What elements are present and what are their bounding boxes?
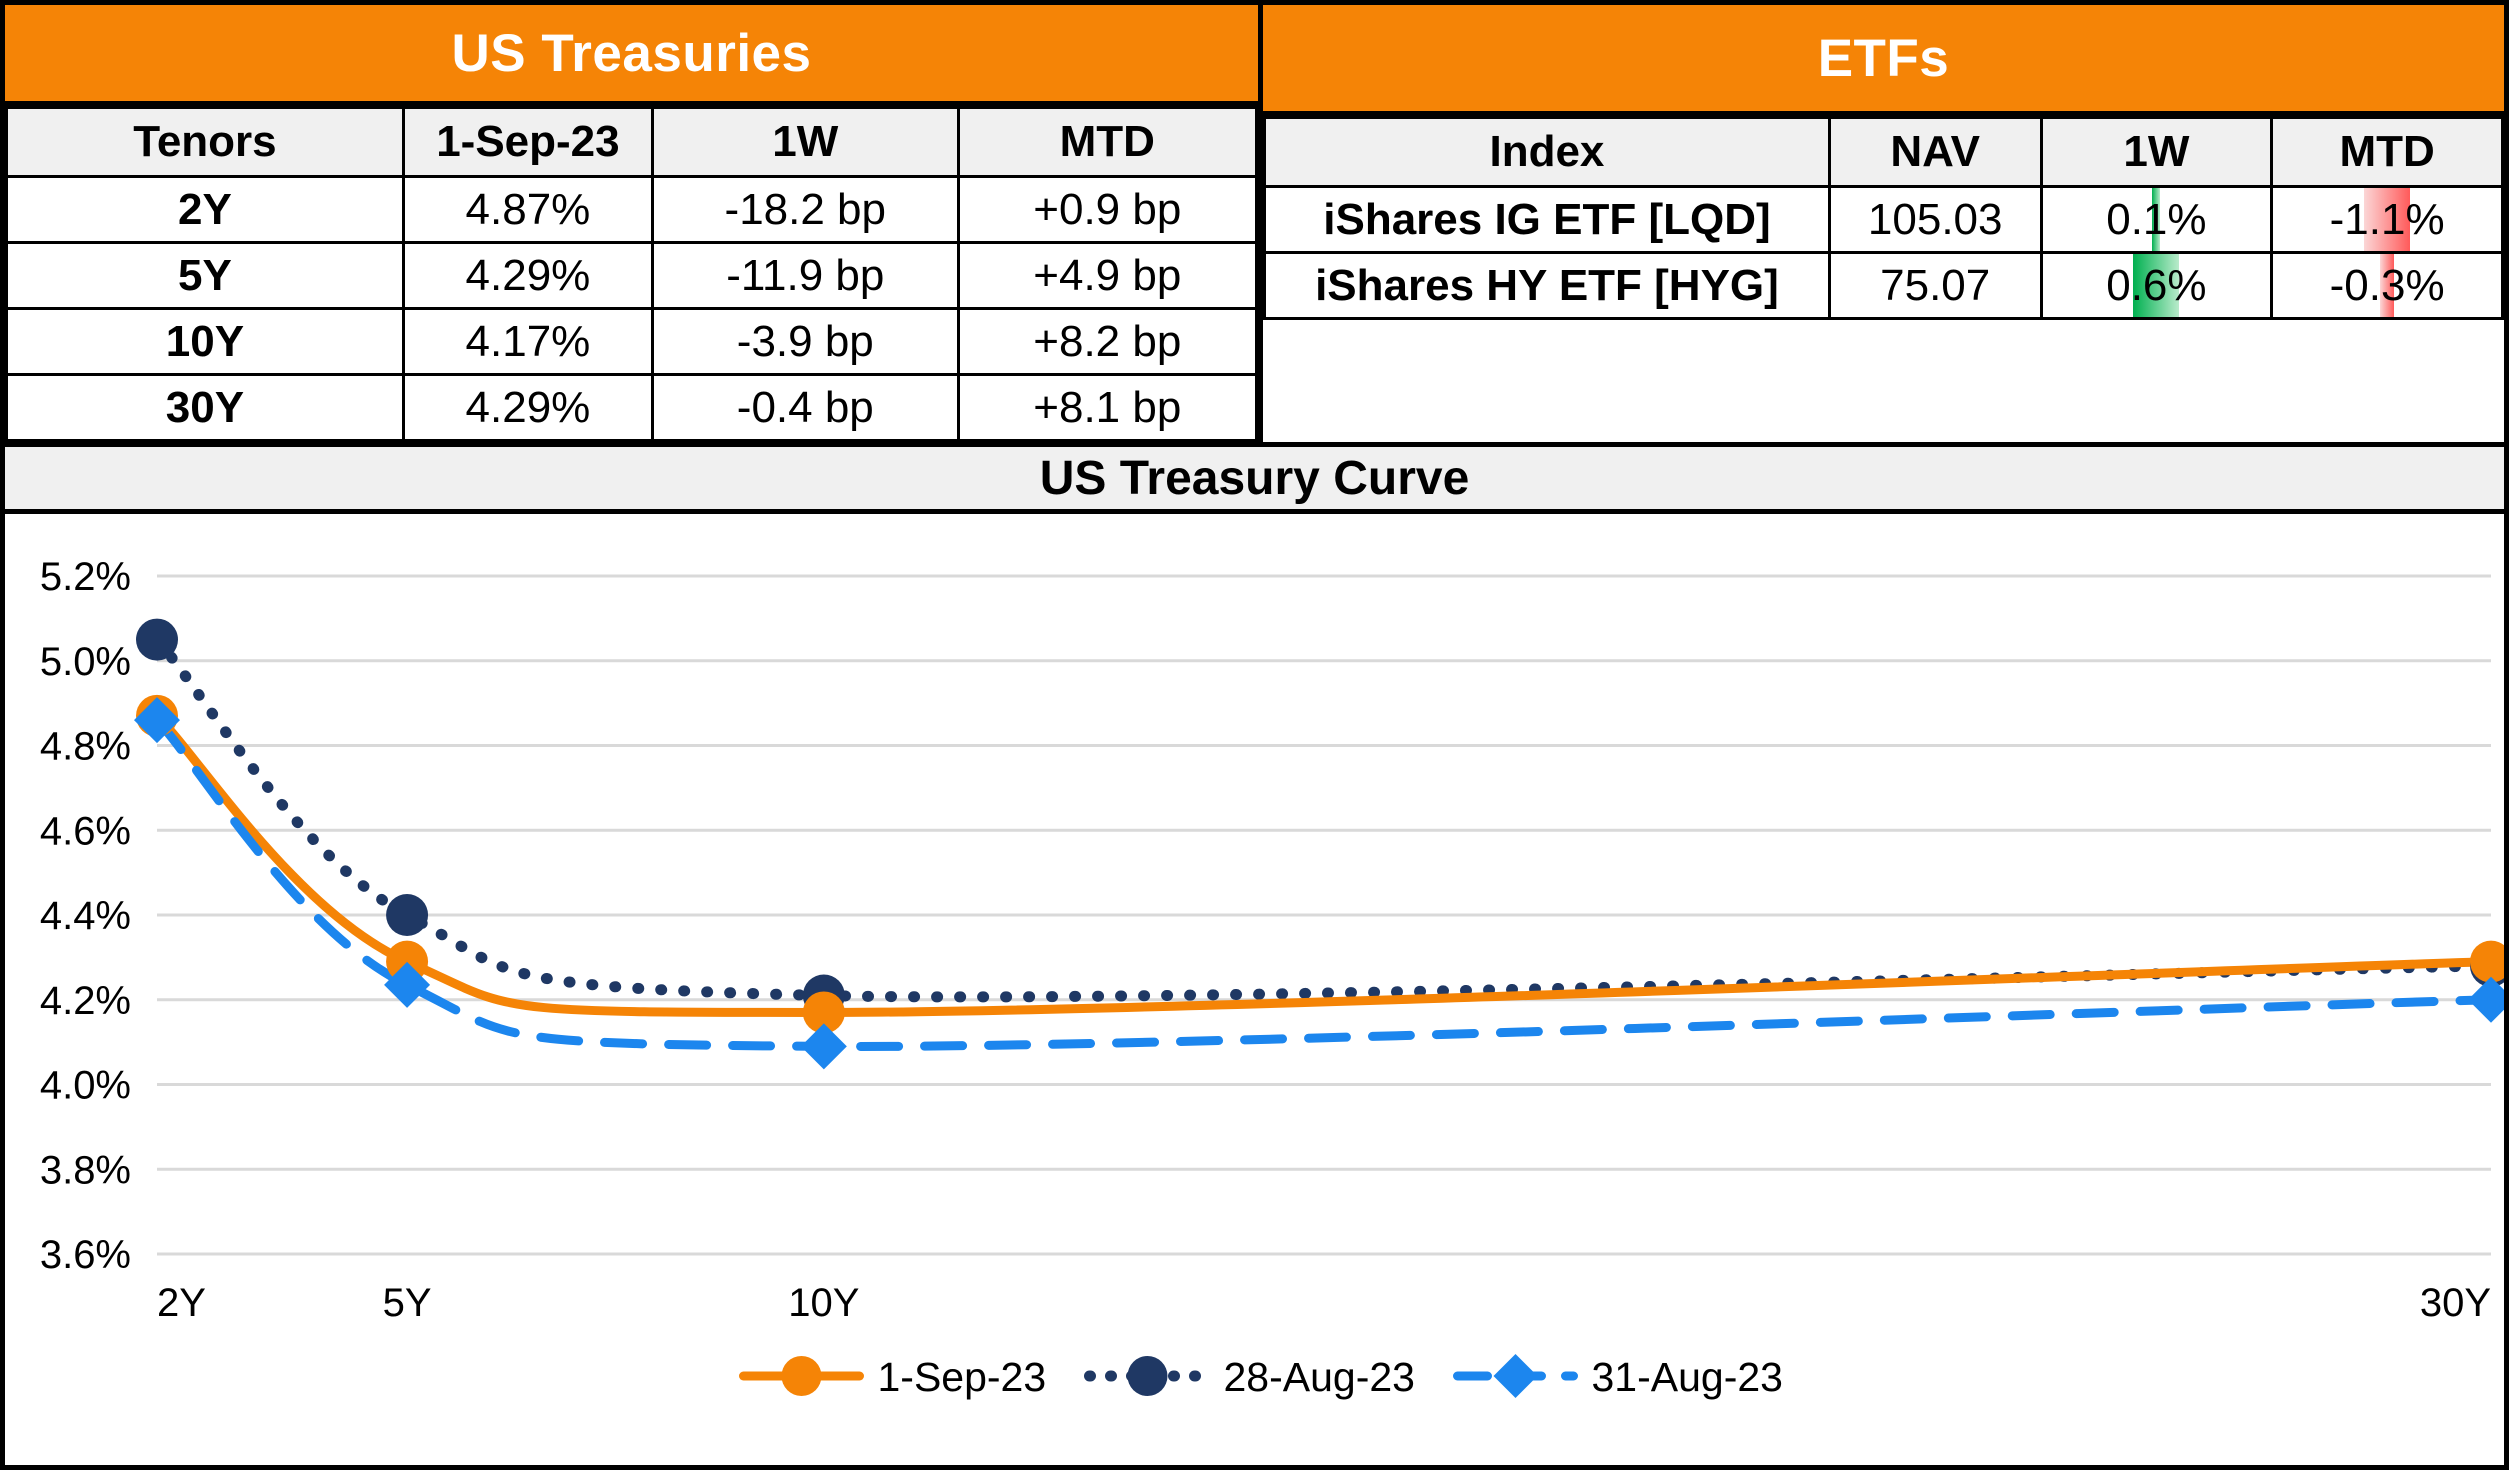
- chart-legend: 1-Sep-2328-Aug-2331-Aug-23: [744, 1354, 1783, 1400]
- legend-swatch-marker: [1128, 1356, 1168, 1396]
- tenor-cell: 10Y: [7, 309, 404, 375]
- table-row: 5Y 4.29% -11.9 bp +4.9 bp: [7, 243, 1257, 309]
- table-row: 30Y 4.29% -0.4 bp +8.1 bp: [7, 375, 1257, 441]
- y-tick-label: 5.0%: [40, 640, 131, 684]
- col-nav: NAV: [1829, 118, 2041, 187]
- chart-gridlines: [157, 576, 2491, 1254]
- etf-nav-cell: 75.07: [1829, 253, 2041, 319]
- y-tick-label: 5.2%: [40, 555, 131, 599]
- col-mtd: MTD: [2272, 118, 2503, 187]
- y-tick-label: 4.4%: [40, 894, 131, 938]
- etf-1w-cell: 0.1%: [2041, 187, 2272, 253]
- etfs-header-row: Index NAV 1W MTD: [1265, 118, 2503, 187]
- x-tick-label: 10Y: [788, 1281, 859, 1325]
- x-tick-label: 30Y: [2420, 1281, 2491, 1325]
- y-tick-label: 3.6%: [40, 1233, 131, 1277]
- etf-index-cell: iShares HY ETF [HYG]: [1265, 253, 1830, 319]
- y-tick-label: 4.8%: [40, 725, 131, 769]
- tenor-cell: 2Y: [7, 177, 404, 243]
- y-tick-label: 4.2%: [40, 979, 131, 1023]
- etf-mtd-value: -1.1%: [2330, 195, 2445, 244]
- etfs-table: Index NAV 1W MTD iShares IG ETF [LQD] 10…: [1263, 116, 2504, 320]
- us-treasuries-table: Tenors 1-Sep-23 1W MTD 2Y 4.87% -18.2 bp…: [5, 106, 1258, 442]
- us-treasury-curve-chart: 3.6%3.8%4.0%4.2%4.4%4.6%4.8%5.0%5.2% 2Y5…: [5, 514, 2504, 1459]
- y-tick-label: 3.8%: [40, 1148, 131, 1192]
- table-row: 10Y 4.17% -3.9 bp +8.2 bp: [7, 309, 1257, 375]
- mtd-cell: +4.9 bp: [958, 243, 1256, 309]
- y-tick-label: 4.0%: [40, 1064, 131, 1108]
- etf-index-cell: iShares IG ETF [LQD]: [1265, 187, 1830, 253]
- col-level: 1-Sep-23: [403, 108, 652, 177]
- tables-strip: US Treasuries Tenors 1-Sep-23 1W MTD 2Y: [5, 5, 2504, 442]
- etfs-panel: ETFs Index NAV 1W MTD iShares IG ETF [LQ…: [1263, 5, 2504, 442]
- chart-svg: 3.6%3.8%4.0%4.2%4.4%4.6%4.8%5.0%5.2% 2Y5…: [5, 514, 2504, 1459]
- etf-1w-value: 0.6%: [2106, 261, 2206, 310]
- x-tick-label: 5Y: [383, 1281, 432, 1325]
- table-row: iShares IG ETF [LQD] 105.03 0.1% -1.1%: [1265, 187, 2503, 253]
- market-dashboard: US Treasuries Tenors 1-Sep-23 1W MTD 2Y: [0, 0, 2509, 1470]
- level-cell: 4.87%: [403, 177, 652, 243]
- level-cell: 4.17%: [403, 309, 652, 375]
- treasuries-header-row: Tenors 1-Sep-23 1W MTD: [7, 108, 1257, 177]
- tenor-cell: 30Y: [7, 375, 404, 441]
- data-point-marker: [386, 894, 428, 936]
- etf-mtd-cell: -0.3%: [2272, 253, 2503, 319]
- mtd-cell: +8.2 bp: [958, 309, 1256, 375]
- data-point-marker: [801, 1023, 847, 1069]
- chart-y-axis-labels: 3.6%3.8%4.0%4.2%4.4%4.6%4.8%5.0%5.2%: [40, 555, 131, 1277]
- w1-cell: -18.2 bp: [652, 177, 958, 243]
- chart-x-axis-labels: 2Y5Y10Y30Y: [157, 1281, 2491, 1325]
- x-tick-label: 2Y: [157, 1281, 206, 1325]
- etf-mtd-value: -0.3%: [2330, 261, 2445, 310]
- etf-1w-cell: 0.6%: [2041, 253, 2272, 319]
- col-index: Index: [1265, 118, 1830, 187]
- level-cell: 4.29%: [403, 375, 652, 441]
- etf-nav-cell: 105.03: [1829, 187, 2041, 253]
- legend-label[interactable]: 28-Aug-23: [1224, 1354, 1415, 1400]
- legend-swatch-marker: [1494, 1354, 1538, 1398]
- col-1w: 1W: [652, 108, 958, 177]
- col-mtd: MTD: [958, 108, 1256, 177]
- tenor-cell: 5Y: [7, 243, 404, 309]
- etf-mtd-cell: -1.1%: [2272, 187, 2503, 253]
- etfs-band-title: ETFs: [1263, 5, 2504, 116]
- w1-cell: -3.9 bp: [652, 309, 958, 375]
- mtd-cell: +0.9 bp: [958, 177, 1256, 243]
- series-line-28-aug-23: [157, 640, 2491, 997]
- table-row: 2Y 4.87% -18.2 bp +0.9 bp: [7, 177, 1257, 243]
- w1-cell: -11.9 bp: [652, 243, 958, 309]
- data-point-marker: [136, 619, 178, 661]
- chart-title: US Treasury Curve: [5, 442, 2504, 514]
- w1-cell: -0.4 bp: [652, 375, 958, 441]
- legend-label[interactable]: 1-Sep-23: [878, 1354, 1047, 1400]
- col-1w: 1W: [2041, 118, 2272, 187]
- table-row: iShares HY ETF [HYG] 75.07 0.6% -0.3%: [1265, 253, 2503, 319]
- chart-series: [134, 619, 2504, 1070]
- level-cell: 4.29%: [403, 243, 652, 309]
- legend-label[interactable]: 31-Aug-23: [1592, 1354, 1783, 1400]
- us-treasuries-band-title: US Treasuries: [5, 5, 1258, 106]
- col-tenors: Tenors: [7, 108, 404, 177]
- etf-1w-value: 0.1%: [2106, 195, 2206, 244]
- mtd-cell: +8.1 bp: [958, 375, 1256, 441]
- legend-swatch-marker: [782, 1356, 822, 1396]
- us-treasuries-panel: US Treasuries Tenors 1-Sep-23 1W MTD 2Y: [5, 5, 1263, 442]
- y-tick-label: 4.6%: [40, 809, 131, 853]
